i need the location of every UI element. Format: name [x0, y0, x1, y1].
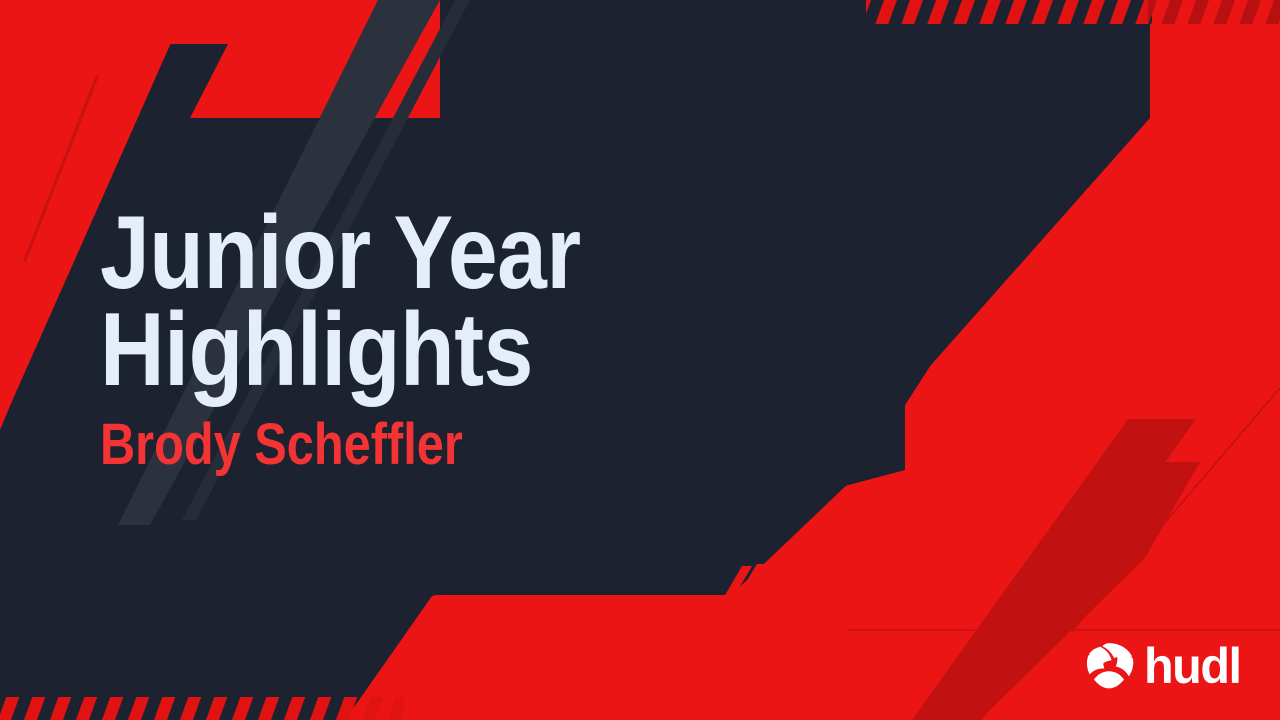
highlight-title-card: Junior Year Highlights Brody Scheffler h…	[0, 0, 1280, 720]
hudl-wordmark: hudl	[1144, 641, 1241, 691]
player-name-subtitle: Brody Scheffler	[100, 416, 688, 474]
hudl-pinwheel-icon	[1083, 640, 1135, 692]
hudl-logo: hudl	[1083, 640, 1244, 692]
hash-stripes-bottom-left	[0, 697, 404, 720]
hash-stripes-top-right	[866, 0, 1280, 24]
title-line-2: Highlights	[100, 302, 702, 399]
title-line-1: Junior Year	[100, 205, 702, 302]
title-text-block: Junior Year Highlights Brody Scheffler	[100, 205, 800, 474]
